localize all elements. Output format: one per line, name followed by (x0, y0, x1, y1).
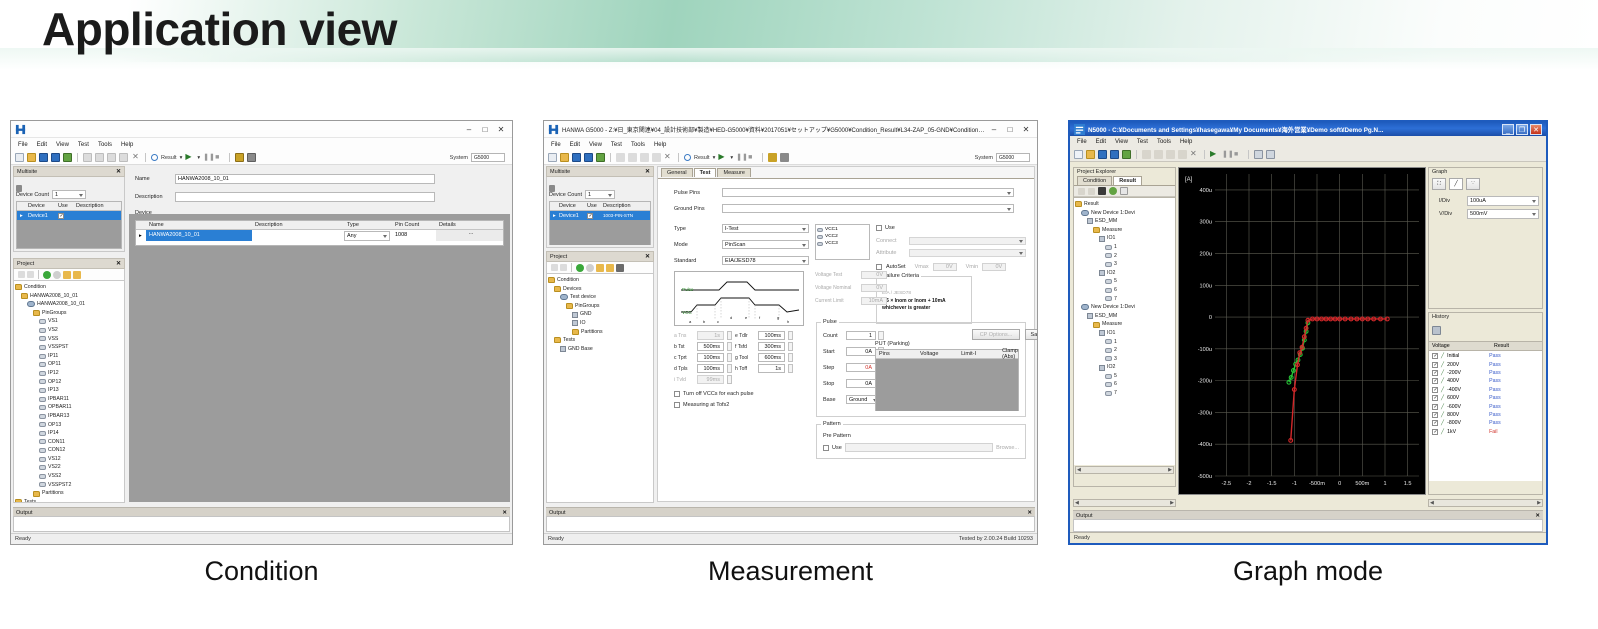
tree-node[interactable]: PinGroups (15, 309, 123, 318)
export-icon[interactable] (596, 153, 605, 162)
graph-window[interactable]: N5000 - C:¥Documents and Settings¥hasega… (1068, 120, 1548, 545)
cut-icon[interactable] (1142, 150, 1151, 159)
new-icon[interactable] (1074, 150, 1083, 159)
history-checkbox[interactable] (1432, 404, 1438, 410)
idiv-select[interactable]: 100uA (1467, 196, 1539, 206)
remove-icon[interactable] (53, 271, 61, 279)
tree-node[interactable]: ESD_MM (1075, 217, 1174, 226)
tree-node[interactable]: 3 (1075, 355, 1174, 364)
measurement-titlebar[interactable]: HANWA G5000 - Z:¥日_東京関連¥04_設計技術部¥製造¥HED-… (544, 121, 1037, 138)
condition-toolbar[interactable]: ✕ Result ▾ ▶ ▾ ❚❚ ■ System G5000 (11, 151, 512, 165)
menu-tools[interactable]: Tools (98, 142, 112, 148)
tree-node[interactable]: CON12 (15, 446, 123, 455)
duplicate-icon[interactable] (1178, 150, 1187, 159)
tree-node[interactable]: IP12 (15, 369, 123, 378)
tree-node[interactable]: VS1 (15, 317, 123, 326)
history-row[interactable]: ╱200VPass (1432, 360, 1539, 368)
binoculars-icon[interactable] (1098, 187, 1106, 195)
vmax-input[interactable]: 0V (933, 263, 957, 271)
search-icon[interactable] (151, 154, 158, 161)
table-row[interactable]: ▸ HANWA2008_10_01 Any 1008 ... (136, 230, 503, 241)
tree-node[interactable]: New Device 1:Devi (1075, 303, 1174, 312)
stop-icon[interactable]: ■ (1234, 150, 1243, 159)
save-icon[interactable] (1098, 150, 1107, 159)
expand-all-icon[interactable] (18, 271, 25, 278)
history-row[interactable]: ╱400VPass (1432, 377, 1539, 385)
measurement-window[interactable]: HANWA G5000 - Z:¥日_東京関連¥04_設計技術部¥製造¥HED-… (543, 120, 1038, 545)
condition-window[interactable]: – □ ✕ File Edit View Test Tools Help ✕ (10, 120, 513, 545)
tree-node[interactable]: Tests (15, 498, 123, 503)
tree-node[interactable]: GND (548, 310, 652, 319)
history-checkbox[interactable] (1432, 412, 1438, 418)
expand-all-icon[interactable] (1078, 188, 1085, 195)
save-all-icon[interactable] (1110, 150, 1119, 159)
copy-icon[interactable] (628, 153, 637, 162)
condition-window-buttons[interactable]: – □ ✕ (462, 124, 510, 135)
timing-spinner[interactable] (788, 364, 793, 373)
timing-spinner[interactable] (788, 353, 793, 362)
timing-spinner[interactable] (727, 375, 732, 384)
graph-output-area[interactable] (1073, 519, 1543, 532)
tree-node[interactable]: IO1 (1075, 234, 1174, 243)
count-spinner[interactable] (878, 331, 884, 340)
voltage-test-input[interactable]: 0V (861, 271, 887, 279)
tree-node[interactable]: HANWA2008_10_01 (15, 292, 123, 301)
attribute-select[interactable] (909, 249, 1026, 257)
project-toolbar[interactable] (546, 262, 654, 274)
paste-icon[interactable] (640, 153, 649, 162)
minimize-button[interactable]: – (987, 124, 1001, 135)
settings-icon[interactable] (247, 153, 256, 162)
run-icon[interactable]: ▶ (1210, 150, 1219, 159)
timing-spinner[interactable] (727, 353, 732, 362)
tree-node[interactable]: 5 (1075, 277, 1174, 286)
put-table[interactable]: Pins Voltage Limit-I Clamp (Abs) (875, 349, 1019, 411)
import-icon[interactable] (596, 264, 604, 272)
cut-icon[interactable] (616, 153, 625, 162)
tree-node[interactable]: Measure (1075, 226, 1174, 235)
timing-input[interactable]: 100ms (758, 331, 785, 340)
open-icon[interactable] (560, 153, 569, 162)
device-table[interactable]: Name Description Type Pin Count Details … (135, 220, 504, 246)
step-input[interactable]: 0A (846, 363, 876, 372)
tree-node[interactable]: Measure (1075, 320, 1174, 329)
close-button[interactable]: ✕ (1530, 124, 1542, 135)
lock-icon[interactable] (235, 153, 244, 162)
use-checkbox[interactable] (58, 213, 64, 219)
measurement-output-area[interactable] (546, 516, 1035, 532)
menu-test[interactable]: Test (78, 142, 89, 148)
history-checkbox[interactable] (1432, 353, 1438, 359)
explorer-toolbar[interactable] (1074, 185, 1175, 197)
save-icon[interactable] (39, 153, 48, 162)
tab-general[interactable]: General (661, 168, 693, 177)
tree-node[interactable]: VSSPST2 (15, 481, 123, 490)
delete-icon[interactable]: ✕ (131, 153, 140, 162)
history-checkbox[interactable] (1432, 362, 1438, 368)
tree-node[interactable]: Condition (15, 283, 123, 292)
standard-select[interactable]: EIA/JESD78 (722, 256, 809, 265)
tree-node[interactable]: VS22 (15, 463, 123, 472)
cell-type-select[interactable]: Any (344, 231, 390, 241)
output-close-icon[interactable]: ✕ (1027, 510, 1032, 516)
history-row[interactable]: ╱800VPass (1432, 411, 1539, 419)
timing-spinner[interactable] (727, 342, 732, 351)
multisite-table[interactable]: Device Use Description ▸ Device1 (16, 201, 122, 249)
open-folder-icon[interactable] (73, 271, 81, 279)
timing-grid[interactable]: a Tns1se Tdlr100msb Tst500msf Tsfd300msc… (674, 331, 809, 386)
history-checkbox[interactable] (1432, 387, 1438, 393)
tree-hscrollbar[interactable]: ◀▶ (1073, 499, 1176, 507)
timing-input[interactable]: 100ms (697, 364, 724, 373)
multisite-table[interactable]: Device Use Description ▸ Device1 1003-PI… (549, 201, 651, 245)
menu-edit[interactable]: Edit (37, 142, 47, 148)
explorer-tabs[interactable]: Condition Result (1074, 176, 1175, 185)
tab-test[interactable]: Test (694, 168, 717, 177)
pause-icon[interactable]: ❚❚ (736, 153, 745, 162)
system-select[interactable]: G5000 (996, 153, 1030, 162)
project-toolbar[interactable] (13, 269, 125, 281)
tree-node[interactable]: IO1 (1075, 329, 1174, 338)
fit-graph-icon[interactable]: ⛶ (1432, 178, 1446, 190)
condition-output-area[interactable] (13, 516, 510, 532)
menu-file[interactable]: File (1077, 139, 1087, 145)
run-dropdown-arrow[interactable]: ▾ (197, 155, 200, 161)
turn-off-vccs-checkbox[interactable] (674, 391, 680, 397)
menu-tools[interactable]: Tools (1157, 139, 1171, 145)
settings-icon[interactable] (780, 153, 789, 162)
sampling-settings-button[interactable]: Sampling Settings... (1025, 329, 1038, 340)
line-mode-icon[interactable]: ╱ (1449, 178, 1463, 190)
history-export-icon[interactable] (1432, 326, 1441, 335)
ground-pins-select[interactable] (722, 204, 1014, 213)
vdiv-select[interactable]: 500mV (1467, 209, 1539, 219)
graph-window-buttons[interactable]: _ ❐ ✕ (1502, 124, 1544, 135)
open-icon[interactable] (27, 153, 36, 162)
result-dropdown-label[interactable]: Result (694, 155, 710, 161)
history-table-body[interactable]: ╱InitialPass╱200VPass╱-200VPass╱400VPass… (1429, 351, 1542, 481)
refresh-icon[interactable] (1109, 187, 1117, 195)
add-icon[interactable] (43, 271, 51, 279)
tree-node[interactable]: OP11 (15, 360, 123, 369)
pin-icon (39, 474, 46, 479)
cell-details-button[interactable]: ... (436, 230, 503, 241)
measuring-tofs2-checkbox[interactable] (674, 402, 680, 408)
history-row[interactable]: ╱-600VPass (1432, 402, 1539, 410)
history-checkbox[interactable] (1432, 378, 1438, 384)
open-icon[interactable] (1086, 150, 1095, 159)
count-input[interactable]: 1 (846, 331, 876, 340)
pre-pattern-use-checkbox[interactable] (823, 445, 829, 451)
timing-input[interactable]: 500ms (697, 342, 724, 351)
tree-node[interactable]: 2 (1075, 346, 1174, 355)
description-input[interactable] (175, 192, 435, 202)
table-row[interactable]: ▸ Device1 (17, 211, 121, 220)
timing-input[interactable]: 1s (697, 331, 724, 340)
tab-condition[interactable]: Condition (1077, 176, 1112, 185)
copy-icon[interactable] (1154, 150, 1163, 159)
tree-node[interactable]: Result (1075, 200, 1174, 209)
history-row[interactable]: ╱1kVFail (1432, 428, 1539, 436)
delete-icon[interactable]: ✕ (664, 153, 673, 162)
tree-node[interactable]: IO2 (1075, 269, 1174, 278)
new-icon[interactable] (548, 153, 557, 162)
use-checkbox[interactable] (876, 225, 882, 231)
tree-node[interactable]: New Device 1:Devi (1075, 209, 1174, 218)
menu-file[interactable]: File (18, 142, 28, 148)
save-all-icon[interactable] (51, 153, 60, 162)
menu-test[interactable]: Test (1137, 139, 1148, 145)
tree-node[interactable]: Test device (548, 293, 652, 302)
autoset-checkbox[interactable] (876, 264, 882, 270)
vcc-list-item[interactable]: VCC2 (817, 233, 868, 240)
tree-node[interactable]: IP11 (15, 352, 123, 361)
point-mode-icon[interactable]: ∵ (1466, 178, 1480, 190)
vcc-list-item[interactable]: VCC3 (817, 240, 868, 247)
graph-titlebar[interactable]: N5000 - C:¥Documents and Settings¥hasega… (1070, 122, 1546, 136)
type-select[interactable]: I-Test (722, 224, 809, 233)
iv-chart[interactable]: 400u300u200u100u0-100u-200u-300u-400u-50… (1178, 167, 1426, 495)
tree-node[interactable]: VSSPST (15, 343, 123, 352)
pulse-pins-select[interactable] (722, 188, 1014, 197)
menu-view[interactable]: View (56, 142, 69, 148)
delete-icon[interactable]: ✕ (1190, 150, 1199, 159)
tree-node[interactable]: VSS2 (15, 472, 123, 481)
menu-view[interactable]: View (589, 142, 602, 148)
result-dropdown-arrow[interactable]: ▾ (180, 155, 183, 161)
voltage-nominal-input[interactable]: 0V (861, 284, 887, 292)
close-button[interactable]: ✕ (1019, 124, 1033, 135)
pause-icon[interactable]: ❚❚ (1222, 150, 1231, 159)
vcc-list[interactable]: VCC1VCC2VCC3 (815, 224, 870, 260)
history-row[interactable]: ╱-800VPass (1432, 419, 1539, 427)
tree-node[interactable]: GND Base (548, 345, 652, 354)
paste-icon[interactable] (1166, 150, 1175, 159)
grid-view-icon[interactable] (1266, 150, 1275, 159)
measurement-toolbar[interactable]: ✕ Result ▾ ▶ ▾ ❚❚ ■ System G5000 (544, 151, 1037, 165)
run-icon[interactable]: ▶ (718, 153, 727, 162)
copy-icon[interactable] (95, 153, 104, 162)
tab-result[interactable]: Result (1113, 176, 1142, 185)
use-checkbox[interactable] (587, 213, 593, 219)
remove-icon[interactable] (586, 264, 594, 272)
vmin-input[interactable]: 0V (982, 263, 1006, 271)
run-icon[interactable]: ▶ (185, 153, 194, 162)
history-row[interactable]: ╱InitialPass (1432, 352, 1539, 360)
run-dropdown-arrow[interactable]: ▾ (730, 155, 733, 161)
timing-spinner[interactable] (727, 331, 732, 340)
graph-menubar[interactable]: File Edit View Test Tools Help (1070, 136, 1546, 148)
browse-button[interactable]: Browse... (996, 445, 1019, 451)
device-count-select[interactable]: 1 (52, 190, 86, 199)
export-icon[interactable] (63, 153, 72, 162)
tree-node[interactable]: IP14 (15, 429, 123, 438)
device-count-select[interactable]: 1 (585, 190, 615, 199)
close-button[interactable]: ✕ (494, 124, 508, 135)
tree-node[interactable]: PinGroups (548, 302, 652, 311)
measurement-menubar[interactable]: File Edit View Test Tools Help (544, 138, 1037, 151)
menu-view[interactable]: View (1115, 139, 1128, 145)
timing-input[interactable]: 300ms (758, 342, 785, 351)
pause-icon[interactable]: ❚❚ (203, 153, 212, 162)
add-icon[interactable] (576, 264, 584, 272)
duplicate-icon[interactable] (119, 153, 128, 162)
tree-node[interactable]: VSS (15, 335, 123, 344)
search-icon[interactable] (684, 154, 691, 161)
tree-node[interactable]: OPBAR11 (15, 403, 123, 412)
device-icon (1081, 304, 1089, 310)
tree-node[interactable]: CON11 (15, 438, 123, 447)
menu-help[interactable]: Help (1180, 139, 1192, 145)
measurement-project-tree[interactable]: ConditionDevicesTest devicePinGroupsGNDI… (546, 274, 654, 503)
collapse-all-icon[interactable] (1088, 188, 1095, 195)
minimize-button[interactable]: – (462, 124, 476, 135)
ground-pins-label: Ground Pins (674, 206, 716, 212)
timing-input[interactable]: 99ms (697, 375, 724, 384)
tree-node[interactable]: IPBAR11 (15, 395, 123, 404)
tree-node[interactable]: Condition (548, 276, 652, 285)
result-dropdown-arrow[interactable]: ▾ (713, 155, 716, 161)
measurement-tabs[interactable]: General Test Measure (658, 167, 1034, 177)
properties-icon[interactable] (1120, 187, 1128, 195)
tree-node[interactable]: IPBAR13 (15, 412, 123, 421)
tree-node[interactable]: OP12 (15, 378, 123, 387)
cut-icon[interactable] (83, 153, 92, 162)
tree-node[interactable]: Partitions (15, 489, 123, 498)
tree-node[interactable]: HANWA2008_10_01 (15, 300, 123, 309)
pre-pattern-input[interactable] (845, 443, 993, 452)
multisite-pin-icon[interactable] (16, 179, 122, 188)
paste-icon[interactable] (107, 153, 116, 162)
condition-menubar[interactable]: File Edit View Test Tools Help (11, 138, 512, 151)
tree-node[interactable]: IO (548, 319, 652, 328)
result-dropdown-label[interactable]: Result (161, 155, 177, 161)
multisite-close-icon[interactable]: ✕ (645, 168, 650, 175)
collapse-all-icon[interactable] (560, 264, 567, 271)
tree-node[interactable]: ESD_MM (1075, 312, 1174, 321)
name-input[interactable]: HANWA2008_10_01 (175, 174, 435, 184)
tree-node[interactable]: 2 (1075, 252, 1174, 261)
tree-node-label: IPBAR13 (48, 412, 69, 421)
history-row[interactable]: ╱600VPass (1432, 394, 1539, 402)
menu-file[interactable]: File (551, 142, 561, 148)
start-input[interactable]: 0A (846, 347, 876, 356)
save-all-icon[interactable] (584, 153, 593, 162)
menu-test[interactable]: Test (611, 142, 622, 148)
measurement-window-buttons[interactable]: – □ ✕ (987, 124, 1035, 135)
tree-node[interactable]: 6 (1075, 286, 1174, 295)
table-row[interactable]: ▸ Device1 1003-PIN-STN (550, 211, 650, 220)
minimize-button[interactable]: _ (1502, 124, 1514, 135)
timing-input[interactable]: 1s (758, 364, 785, 373)
tab-measure[interactable]: Measure (717, 168, 750, 177)
maximize-button[interactable]: □ (478, 124, 492, 135)
tree-node-label: VSS (48, 335, 58, 344)
stop-input[interactable]: 0A (846, 379, 876, 388)
tree-node[interactable]: OP13 (15, 421, 123, 430)
table-view-icon[interactable] (1254, 150, 1263, 159)
mode-select[interactable]: PinScan (722, 240, 809, 249)
menu-help[interactable]: Help (121, 142, 133, 148)
tree-node[interactable]: IO2 (1075, 363, 1174, 372)
output-close-icon[interactable]: ✕ (1535, 513, 1540, 519)
timing-spinner[interactable] (788, 331, 793, 340)
connect-select[interactable] (909, 237, 1026, 245)
menu-edit[interactable]: Edit (1096, 139, 1106, 145)
stop-icon[interactable]: ■ (748, 153, 757, 162)
tree-node[interactable]: 3 (1075, 260, 1174, 269)
import-icon[interactable] (63, 271, 71, 279)
menu-help[interactable]: Help (654, 142, 666, 148)
timing-input[interactable]: 600ms (758, 353, 785, 362)
history-row[interactable]: ╱-200VPass (1432, 369, 1539, 377)
tree-node[interactable]: Tests (548, 336, 652, 345)
export-icon[interactable] (1122, 150, 1131, 159)
project-close-icon[interactable]: ✕ (645, 253, 650, 260)
output-close-icon[interactable]: ✕ (502, 510, 507, 516)
maximize-button[interactable]: ❐ (1516, 124, 1528, 135)
stop-icon[interactable]: ■ (215, 153, 224, 162)
history-checkbox[interactable] (1432, 420, 1438, 426)
tree-node[interactable]: 7 (1075, 295, 1174, 304)
tree-node[interactable]: 1 (1075, 338, 1174, 347)
menu-tools[interactable]: Tools (631, 142, 645, 148)
y-tick-label: 0 (1209, 315, 1212, 321)
cp-options-button[interactable]: CP Options... (972, 329, 1020, 340)
tree-node[interactable]: VS12 (15, 455, 123, 464)
tree-node[interactable]: 1 (1075, 243, 1174, 252)
menu-edit[interactable]: Edit (570, 142, 580, 148)
history-checkbox[interactable] (1432, 370, 1438, 376)
history-hscrollbar[interactable]: ◀▶ (1428, 499, 1543, 507)
open-folder-icon[interactable] (606, 264, 614, 272)
timing-input[interactable]: 100ms (697, 353, 724, 362)
history-checkbox[interactable] (1432, 429, 1438, 435)
current-limit-input[interactable]: 10mA (861, 297, 887, 305)
condition-titlebar[interactable]: – □ ✕ (11, 121, 512, 138)
save-icon[interactable] (572, 153, 581, 162)
system-select[interactable]: G5000 (471, 153, 505, 162)
condition-project-tree[interactable]: ConditionHANWA2008_10_01HANWA2008_10_01P… (13, 281, 125, 503)
x-tick-label: -500m (1309, 481, 1325, 487)
explorer-hscrollbar[interactable]: ◀▶ (1075, 466, 1174, 474)
timing-spinner[interactable] (727, 364, 732, 373)
duplicate-icon[interactable] (652, 153, 661, 162)
project-close-icon[interactable]: ✕ (116, 260, 121, 267)
multisite-close-icon[interactable]: ✕ (116, 168, 121, 175)
tree-node[interactable]: 7 (1075, 389, 1174, 398)
tree-node[interactable]: VS2 (15, 326, 123, 335)
tree-node[interactable]: Partitions (548, 328, 652, 337)
tree-node[interactable]: 6 (1075, 380, 1174, 389)
collapse-all-icon[interactable] (27, 271, 34, 278)
expand-all-icon[interactable] (551, 264, 558, 271)
graph-toolbar[interactable]: ✕ ▶ ❚❚ ■ (1070, 148, 1546, 162)
maximize-button[interactable]: □ (1003, 124, 1017, 135)
timing-spinner[interactable] (788, 342, 793, 351)
tree-node[interactable]: Devices (548, 285, 652, 294)
history-row[interactable]: ╱-400VPass (1432, 386, 1539, 394)
graph-result-tree[interactable]: ResultNew Device 1:DeviESD_MMMeasureIO11… (1074, 197, 1175, 465)
tree-node-label: OP12 (48, 378, 61, 387)
vcc-list-item[interactable]: VCC1 (817, 226, 868, 233)
lock-icon[interactable] (768, 153, 777, 162)
tree-node[interactable]: 5 (1075, 372, 1174, 381)
tree-node[interactable]: IP13 (15, 386, 123, 395)
find-icon[interactable] (616, 264, 624, 272)
history-checkbox[interactable] (1432, 395, 1438, 401)
new-icon[interactable] (15, 153, 24, 162)
